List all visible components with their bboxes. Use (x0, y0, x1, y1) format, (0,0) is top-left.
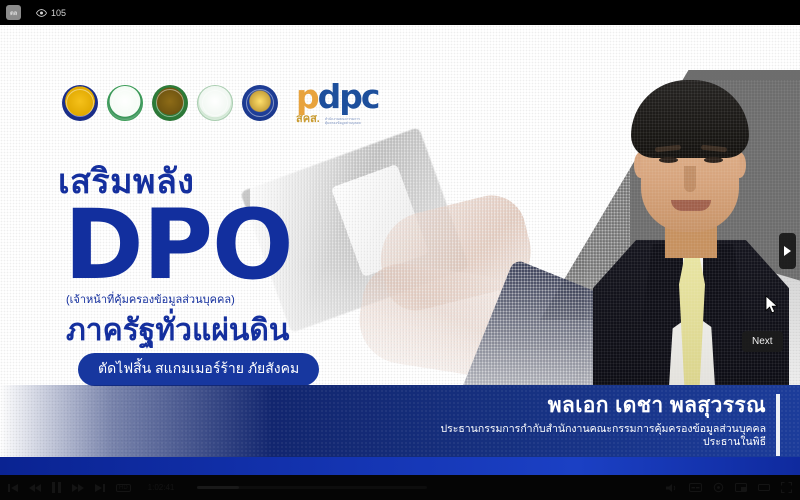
fullscreen-icon[interactable] (781, 482, 792, 493)
banner-accent-rule (776, 394, 780, 456)
next-slide-tab[interactable] (779, 233, 796, 269)
theater-mode-icon[interactable] (758, 483, 770, 492)
pdpc-thai-abbrev: สคส. (296, 114, 320, 125)
speaker-name-block: พลเอก เดชา พลสุวรรณ ประธานกรรมการกำกับสำ… (440, 393, 766, 450)
pdpc-full-name: สำนักงานคณะกรรมการ คุ้มครองข้อมูลส่วนบุค… (325, 117, 361, 126)
fast-forward-icon[interactable] (72, 483, 84, 493)
seal-ministry-digital-economy-icon (107, 85, 143, 121)
headline-tagline-pill: ตัดไฟสิ้น สแกมเมอร์ร้าย ภัยสังคม (78, 353, 319, 386)
pdpc-subtext: สคส. สำนักงานคณะกรรมการ คุ้มครองข้อมูลส่… (296, 114, 378, 125)
eye-icon (36, 9, 47, 17)
seek-bar[interactable] (197, 486, 427, 489)
speaker-role: ประธานกรรมการกำกับสำนักงานคณะกรรมการคุ้ม… (440, 423, 766, 436)
pdpc-logo: pdpc สคส. สำนักงานคณะกรรมการ คุ้มครองข้อ… (296, 80, 378, 125)
current-time: 1:02:41 (148, 483, 175, 492)
channel-avatar[interactable]: ดล (6, 5, 21, 20)
play-triangle-icon (784, 246, 791, 256)
pdpc-wordmark: pdpc (296, 80, 378, 113)
seal-bank-of-thailand-icon (242, 85, 278, 121)
next-button-label: Next (752, 336, 773, 347)
captions-icon[interactable] (689, 483, 702, 492)
volume-icon[interactable] (666, 483, 678, 493)
pdpc-letter-c: c (361, 77, 379, 116)
previous-track-icon[interactable] (8, 483, 18, 493)
pdpc-full-name-line2: คุ้มครองข้อมูลส่วนบุคคล (325, 121, 361, 125)
pdpc-letter-d: d (318, 77, 340, 116)
seal-ministry-interior-icon (152, 85, 188, 121)
view-count-value: 105 (51, 8, 66, 18)
speaker-role-secondary: ประธานในพิธี (440, 436, 766, 449)
speaker-portrait (585, 80, 800, 420)
slide-headline: เสริมพลัง DPO (เจ้าหน้าที่คุ้มครองข้อมูล… (58, 165, 319, 386)
pause-icon[interactable] (52, 482, 61, 493)
pdpc-letter-p1: p (296, 77, 318, 116)
next-track-icon[interactable] (95, 483, 105, 493)
video-player: ดล 105 (0, 0, 800, 500)
speaker-name: พลเอก เดชา พลสุวรรณ (440, 393, 766, 419)
player-top-overlay: ดล 105 (0, 0, 800, 25)
channel-avatar-label: ดล (10, 8, 17, 18)
seal-royal-thai-police-icon (62, 85, 98, 121)
quality-badge[interactable]: HD (116, 484, 131, 492)
headline-line2: ภาครัฐทั่วแผ่นดิน (66, 316, 319, 346)
pdpc-letter-p2: p (339, 77, 361, 116)
gear-icon[interactable] (713, 482, 724, 493)
headline-acronym: DPO (64, 201, 319, 289)
next-button[interactable]: Next (742, 331, 783, 352)
seek-progress (197, 486, 238, 489)
seal-ministry-public-health-icon (197, 85, 233, 121)
slide-stage: pdpc สคส. สำนักงานคณะกรรมการ คุ้มครองข้อ… (0, 25, 800, 475)
player-control-bar: HD 1:02:41 (0, 475, 800, 500)
rewind-icon[interactable] (29, 483, 41, 493)
logo-row: pdpc สคส. สำนักงานคณะกรรมการ คุ้มครองข้อ… (62, 80, 378, 125)
picture-in-picture-icon[interactable] (735, 483, 747, 492)
slide-bottom-strip (0, 457, 800, 475)
view-count-block: 105 (36, 8, 66, 18)
